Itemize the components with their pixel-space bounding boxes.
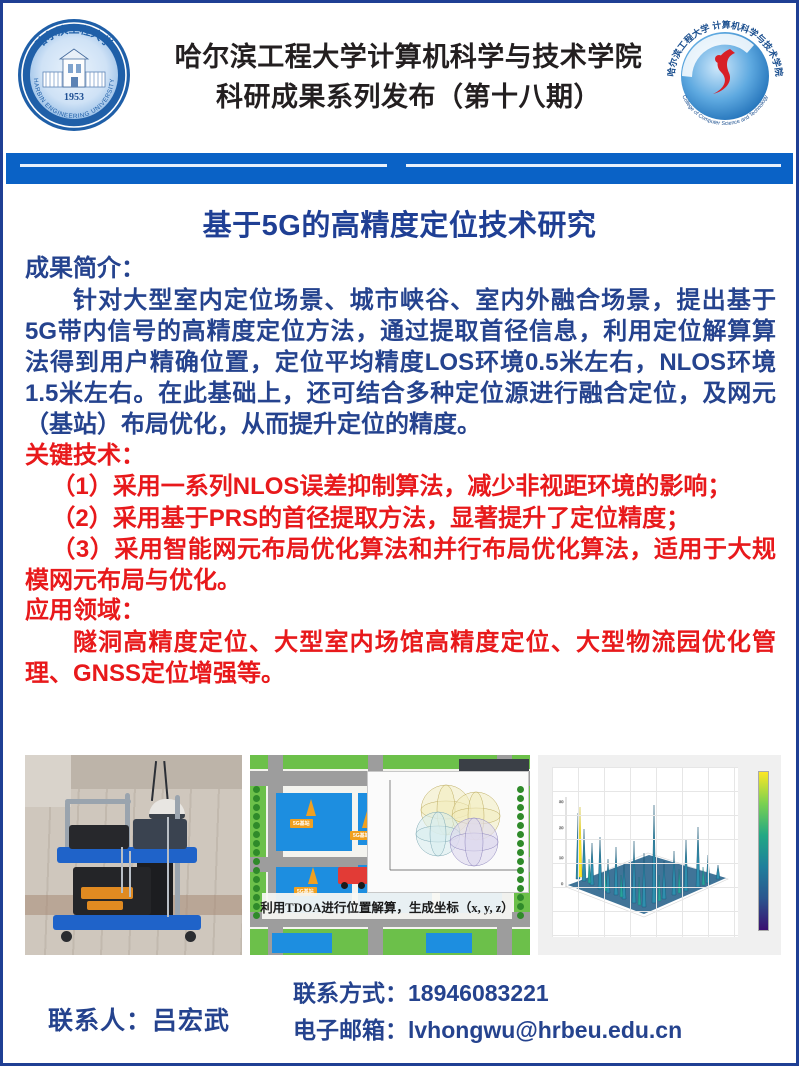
equipment-box-1 bbox=[69, 825, 129, 849]
cable-1 bbox=[121, 847, 123, 893]
section-key-technologies-item-3: （3）采用智能网元布局优化算法和并行布局优化算法，适用于大规模网元布局与优化。 bbox=[25, 534, 776, 596]
generator-stripe-1 bbox=[81, 887, 133, 899]
figure-5g-base-station-city-map: 5G基站 5G基站 5G基站 5G基站 5G基站 bbox=[250, 755, 530, 955]
divider-line-right bbox=[406, 164, 781, 167]
harbin-engineering-university-logo: 1953 哈尔滨工程大学 HARBIN ENGINEERING UNIVERSI… bbox=[15, 16, 133, 134]
contact-phone: 联系方式：18946083221 bbox=[293, 975, 682, 1012]
base-station-tower-1 bbox=[306, 799, 316, 816]
poster-content: 基于5G的高精度定位技术研究 成果简介： 针对大型室内定位场景、城市峡谷、室内外… bbox=[3, 187, 796, 689]
surface-plot-canvas: 3020 100 bbox=[538, 755, 781, 955]
section-key-technologies: 关键技术： （1）采用一系列NLOS误差抑制算法，减少非视距环境的影响； （2）… bbox=[3, 441, 796, 596]
city-block-6 bbox=[272, 933, 332, 953]
plot-axes-area: 3020 100 bbox=[552, 767, 738, 937]
contact-details: 联系方式：18946083221 电子邮箱：lvhongwu@hrbeu.edu… bbox=[293, 975, 682, 1050]
equipment-box-2 bbox=[133, 819, 187, 849]
figure-caption-tdoa: 利用TDOA进行位置解算，生成坐标（x, y, z） bbox=[262, 893, 512, 919]
page-title: 哈尔滨工程大学计算机科学与技术学院 科研成果系列发布（第十八期） bbox=[175, 38, 643, 116]
cart-wheel-2 bbox=[185, 931, 196, 942]
generator-stripe-2 bbox=[87, 901, 123, 910]
city-map-canvas: 5G基站 5G基站 5G基站 5G基站 5G基站 bbox=[250, 755, 530, 955]
header-divider-bar bbox=[6, 153, 793, 184]
city-block-7 bbox=[426, 933, 472, 953]
background-pillar bbox=[25, 755, 71, 807]
poster-footer: 联系人：吕宏武 联系方式：18946083221 电子邮箱：lvhongwu@h… bbox=[3, 971, 796, 1063]
plot-gridlines bbox=[552, 767, 738, 937]
vehicle-truck bbox=[338, 867, 368, 884]
section-key-technologies-item-1: （1）采用一系列NLOS误差抑制算法，减少非视距环境的影响； bbox=[25, 471, 776, 502]
section-application-areas-paragraph-1: 隧洞高精度定位、大型室内场馆高精度定位、大型物流园优化管理、GNSS定位增强等。 bbox=[25, 627, 776, 689]
header-org-line-2: 科研成果系列发布（第十八期） bbox=[175, 78, 643, 117]
section-key-technologies-item-2: （2）采用基于PRS的首径提取方法，显著提升了定位精度； bbox=[25, 503, 776, 534]
cart-wheel-1 bbox=[61, 931, 72, 942]
poster-title: 基于5G的高精度定位技术研究 bbox=[3, 202, 796, 244]
header-org-line-1: 哈尔滨工程大学计算机科学与技术学院 bbox=[175, 38, 643, 77]
poster-header: 1953 哈尔滨工程大学 HARBIN ENGINEERING UNIVERSI… bbox=[3, 3, 796, 148]
base-station-tower-4 bbox=[308, 867, 318, 884]
cable-2 bbox=[129, 851, 131, 897]
road-vertical-1 bbox=[268, 755, 283, 955]
figure-robot-measurement-cart-photo bbox=[25, 755, 242, 955]
plot-colorbar bbox=[758, 771, 769, 931]
section-overview: 成果简介： 针对大型室内定位场景、城市峡谷、室内外融合场景，提出基于5G带内信号… bbox=[3, 254, 796, 441]
section-key-technologies-heading: 关键技术： bbox=[25, 441, 776, 472]
section-overview-heading: 成果简介： bbox=[25, 254, 776, 285]
divider-line-left bbox=[20, 164, 387, 167]
popup-window-titlebar bbox=[459, 759, 529, 771]
section-application-areas-heading: 应用领域： bbox=[25, 596, 776, 627]
cart-lower-shelf bbox=[53, 915, 201, 930]
figure-matlab-3d-surface-plot: 3020 100 bbox=[538, 755, 781, 955]
cable-3 bbox=[167, 817, 169, 917]
contact-email: 电子邮箱：lvhongwu@hrbeu.edu.cn bbox=[293, 1012, 682, 1049]
svg-text:1953: 1953 bbox=[64, 92, 84, 103]
section-overview-paragraph-1: 针对大型室内定位场景、城市峡谷、室内外融合场景，提出基于5G带内信号的高精度定位… bbox=[25, 285, 776, 441]
cart-upper-shelf bbox=[57, 847, 197, 863]
trilateration-sphere-plot bbox=[367, 771, 529, 893]
tree-row-right bbox=[516, 785, 528, 920]
section-application-areas: 应用领域： 隧洞高精度定位、大型室内场馆高精度定位、大型物流园优化管理、GNSS… bbox=[3, 596, 796, 689]
figure-row: 5G基站 5G基站 5G基站 5G基站 5G基站 bbox=[25, 755, 781, 955]
college-of-computer-science-logo: 哈尔滨工程大学 计算机科学与技术学院 College of Computer S… bbox=[664, 15, 786, 137]
poster-page: 1953 哈尔滨工程大学 HARBIN ENGINEERING UNIVERSI… bbox=[0, 0, 799, 1066]
contact-person: 联系人：吕宏武 bbox=[48, 1001, 230, 1037]
cart-handle-top bbox=[65, 799, 131, 804]
